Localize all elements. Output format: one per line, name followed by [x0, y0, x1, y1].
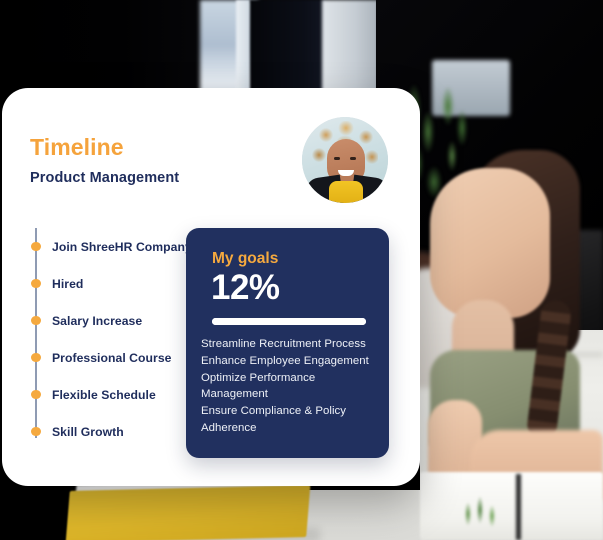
timeline-item-label: Join ShreeHR Company [52, 240, 192, 254]
timeline-item-label: Hired [52, 277, 83, 291]
goals-card: My goals 12% Streamline Recruitment Proc… [186, 228, 389, 458]
goal-item: Optimize Performance Management [201, 370, 383, 404]
timeline-dot-icon [31, 316, 41, 326]
timeline-item-label: Professional Course [52, 351, 171, 365]
timeline-card: Timeline Product Management Join ShreeHR… [2, 88, 420, 486]
goal-item: Ensure Compliance & Policy Adherence [201, 403, 383, 437]
page-subtitle: Product Management [30, 170, 179, 186]
background-small-plant-icon [456, 496, 508, 540]
goals-percent: 12% [211, 268, 280, 308]
background-yellow-folder [66, 485, 311, 540]
avatar-shirt [329, 181, 363, 203]
goals-progress-bar [212, 318, 366, 325]
goals-title: My goals [212, 250, 278, 268]
goals-list: Streamline Recruitment Process Enhance E… [201, 336, 383, 437]
timeline-item[interactable]: Skill Growth [27, 413, 207, 450]
goal-item: Enhance Employee Engagement [201, 353, 383, 370]
timeline-item-label: Salary Increase [52, 314, 142, 328]
timeline-dot-icon [31, 427, 41, 437]
timeline-dot-icon [31, 390, 41, 400]
avatar-eye-right [350, 157, 356, 160]
background-notebook-spine [516, 474, 521, 540]
timeline-item[interactable]: Flexible Schedule [27, 376, 207, 413]
timeline-item[interactable]: Hired [27, 265, 207, 302]
page-title: Timeline [30, 134, 124, 161]
timeline-dot-icon [31, 353, 41, 363]
timeline-item-label: Skill Growth [52, 425, 124, 439]
timeline-item[interactable]: Salary Increase [27, 302, 207, 339]
timeline-item-label: Flexible Schedule [52, 388, 156, 402]
timeline-list: Join ShreeHR Company Hired Salary Increa… [27, 228, 207, 450]
goal-item: Streamline Recruitment Process [201, 336, 383, 353]
timeline-item[interactable]: Professional Course [27, 339, 207, 376]
screenshot-stage: Timeline Product Management Join ShreeHR… [0, 0, 603, 540]
background-notebook [420, 472, 603, 540]
timeline-dot-icon [31, 279, 41, 289]
timeline-dot-icon [31, 242, 41, 252]
background-woman-head [430, 168, 550, 318]
avatar-eye-left [334, 157, 340, 160]
timeline-item[interactable]: Join ShreeHR Company [27, 228, 207, 265]
goals-progress-fill [212, 318, 366, 325]
avatar[interactable] [302, 117, 388, 203]
